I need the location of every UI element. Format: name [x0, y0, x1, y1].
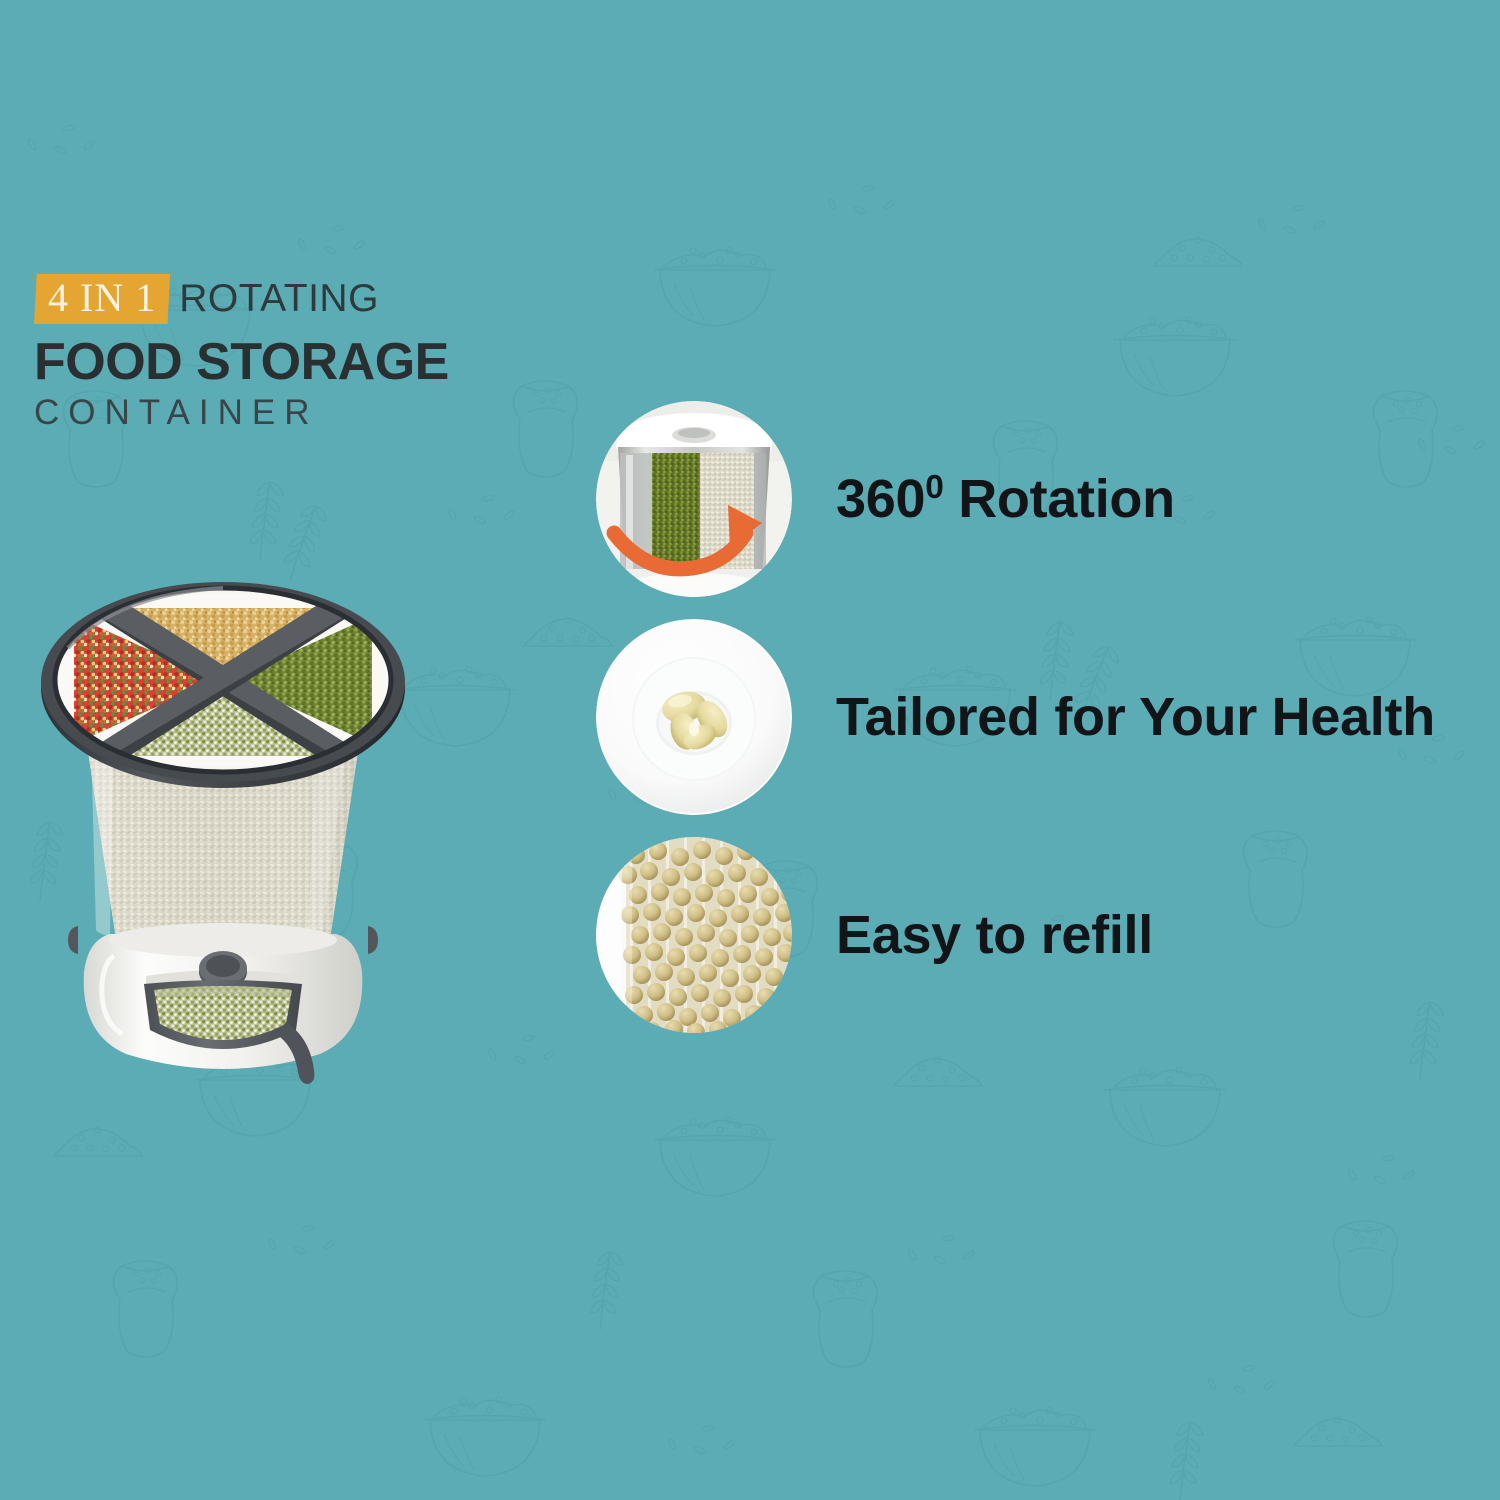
hero-product-image [18, 548, 438, 1118]
feature-list: 3600 Rotation [560, 390, 1500, 1044]
feature-row-health: Tailored for Your Health [560, 608, 1500, 826]
refill-thumbnail [596, 837, 792, 1033]
feature-row-refill: Easy to refill [560, 826, 1500, 1044]
headline-container: CONTAINER [34, 391, 504, 435]
feature-label-refill: Easy to refill [836, 904, 1153, 966]
feature-label-rotation: 3600 Rotation [836, 468, 1175, 530]
rotating-word: ROTATING [179, 274, 379, 324]
feature-row-rotation: 3600 Rotation [560, 390, 1500, 608]
feature-label-health: Tailored for Your Health [836, 686, 1435, 748]
headline-top-line: 4 IN 1 ROTATING [34, 274, 504, 324]
health-thumbnail [596, 619, 792, 815]
headline-food-storage: FOOD STORAGE [34, 331, 504, 393]
headline-block: 4 IN 1 ROTATING FOOD STORAGE CONTAINER [34, 274, 504, 435]
four-in-one-badge: 4 IN 1 [34, 274, 170, 324]
rotation-thumbnail [596, 401, 792, 597]
